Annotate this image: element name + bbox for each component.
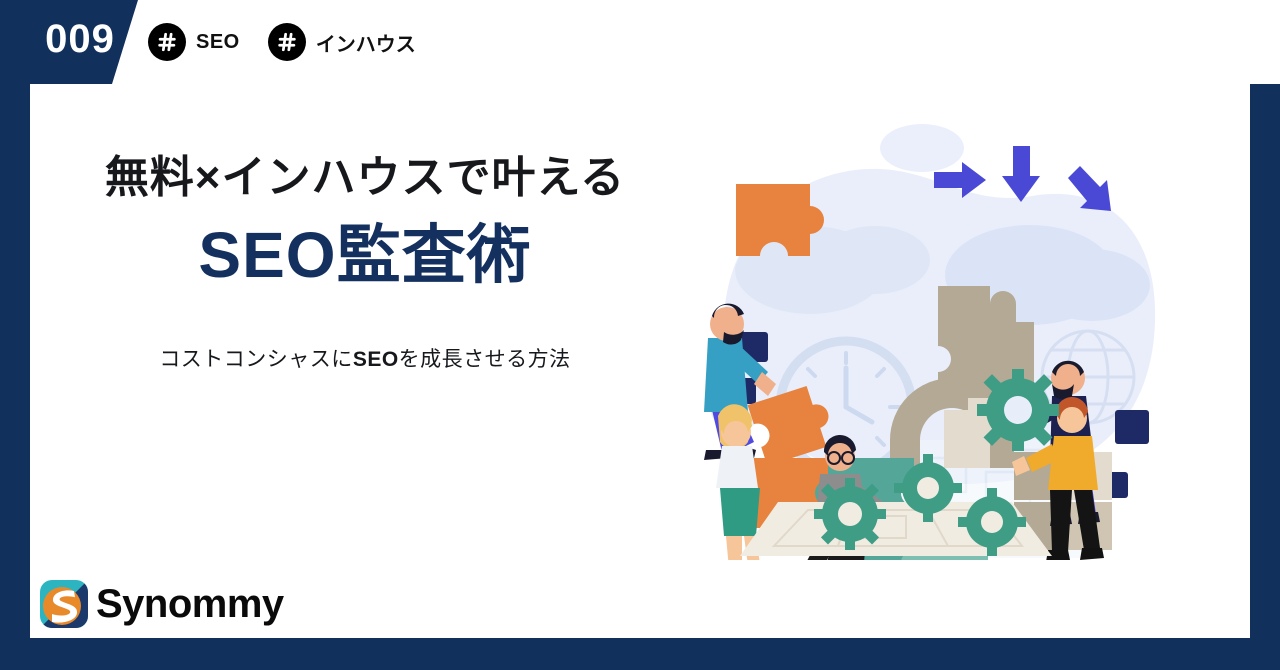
teamwork-puzzle-gears-illustration — [700, 110, 1170, 560]
tag-list: SEO インハウス — [148, 0, 416, 84]
hash-icon — [148, 23, 186, 61]
headline-line-1: 無料×インハウスで叶える — [30, 150, 700, 205]
subcopy-prefix: コストコンシャスに — [159, 348, 353, 371]
slide-canvas: 009 SEO — [0, 0, 1280, 670]
brand-name: Synommy — [96, 578, 284, 630]
hash-icon — [268, 23, 306, 61]
tag-item-inhouse[interactable]: インハウス — [268, 23, 416, 61]
synommy-s-logo-icon — [38, 578, 90, 630]
tag-label: SEO — [196, 31, 240, 54]
slide-header: 009 SEO — [0, 0, 1280, 84]
brand-logo[interactable]: Synommy — [38, 578, 284, 630]
issue-number: 009 — [30, 13, 130, 65]
subcopy-emphasis: SEO — [353, 348, 399, 371]
tag-label: インハウス — [316, 28, 416, 57]
headline-block: 無料×インハウスで叶える SEO監査術 コストコンシャスにSEOを成長させる方法 — [30, 150, 700, 373]
subcopy-suffix: を成長させる方法 — [399, 348, 571, 371]
headline-line-2: SEO監査術 — [30, 219, 700, 293]
subcopy: コストコンシャスにSEOを成長させる方法 — [30, 343, 700, 373]
tag-item-seo[interactable]: SEO — [148, 23, 240, 61]
